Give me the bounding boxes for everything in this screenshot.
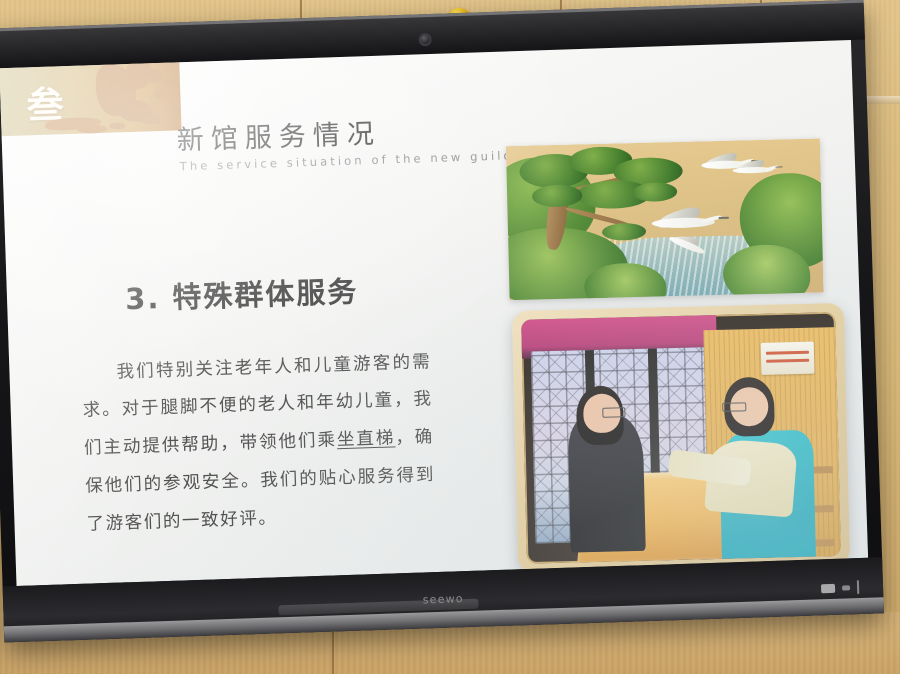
service-desk-photo-image [521, 312, 841, 564]
usb-port-icon[interactable] [821, 583, 835, 592]
crane-pine-painting-image [506, 138, 824, 300]
seewo-interactive-display[interactable]: 叁 新馆服务情况 The service situation of the ne… [0, 0, 884, 642]
crane-icon [732, 161, 773, 179]
slide-header-title: 新馆服务情况 [176, 112, 381, 158]
presentation-slide[interactable]: 叁 新馆服务情况 The service situation of the ne… [0, 40, 868, 586]
service-desk-photo-frame [512, 303, 850, 573]
display-ports[interactable] [821, 580, 859, 595]
slide-heading: 3. 特殊群体服务 [124, 269, 359, 319]
port-icon[interactable] [857, 580, 859, 594]
display-brand-logo: seewo [423, 592, 464, 606]
slide-body-text: 我们特别关注老年人和儿童游客的需求。对于腿脚不便的老人和年幼儿童，我们主动提供帮… [81, 344, 437, 544]
port-icon[interactable] [842, 585, 850, 590]
crane-icon [652, 209, 715, 237]
photo-of-classroom-display: 叁 新馆服务情况 The service situation of the ne… [0, 0, 900, 674]
body-text-underlined: 坐直梯 [337, 428, 396, 450]
camera-sensor-icon [418, 33, 431, 46]
